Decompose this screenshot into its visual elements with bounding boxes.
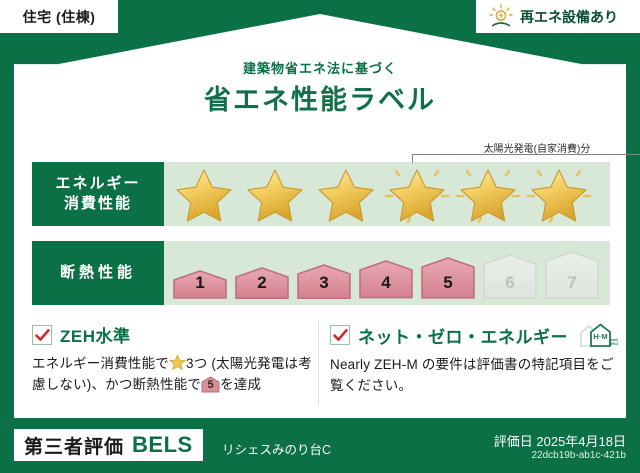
insulation-level-badge: 3 (294, 263, 354, 299)
energy-head-line2: 消費性能 (64, 194, 132, 214)
bels-en-text: BELS (132, 432, 193, 458)
building-type-tab: 住宅 (住棟) (0, 0, 118, 33)
label-subtitle: 建築物省エネ法に基づく (0, 58, 640, 77)
zehm-checkbox[interactable] (330, 325, 350, 345)
insulation-badge-inline: 5 (201, 376, 220, 393)
star-icon (383, 165, 451, 223)
zehm-statement: ネット・ゼロ・エネルギー H·M Nearly ZEH-M Nearly ZEH… (330, 322, 618, 397)
zeh-text-part3: を達成 (220, 377, 261, 392)
insulation-level-badge: 6 (480, 253, 540, 299)
insulation-level-value: 5 (418, 273, 478, 293)
zeh-text-part1: エネルギー消費性能で (32, 356, 169, 371)
zeh-statement: ZEH水準 エネルギー消費性能で3つ (太陽光発電は考慮しない)、かつ断熱性能で… (32, 322, 312, 396)
insulation-level-scale: 1 2 3 (164, 241, 610, 305)
svg-text:H·M: H·M (593, 332, 607, 341)
building-type-text: 住宅 (住棟) (23, 7, 96, 27)
insulation-performance-label-head: 断熱性能 (32, 241, 164, 305)
solar-annotation-text: 太陽光発電(自家消費)分 (406, 140, 640, 155)
insulation-performance-row: 断熱性能 1 2 (32, 241, 610, 305)
zeh-statement-head: ZEH水準 (32, 322, 312, 347)
insulation-level-value: 1 (170, 273, 230, 293)
star-icon (525, 165, 593, 223)
star-icon (169, 354, 186, 371)
energy-performance-row: エネルギー 消費性能 太陽光発電(自家消費)分 (32, 162, 610, 226)
insulation-level-badge: 7 (542, 250, 602, 299)
star-icon (241, 165, 309, 223)
zehm-description: Nearly ZEH-M の要件は評価書の特記項目をご覧ください。 (330, 355, 618, 397)
insulation-level-badge: 5 (418, 256, 478, 299)
bels-jp-text: 第三者評価 (24, 432, 124, 459)
evaluation-date: 評価日 2025年4月18日 (494, 431, 626, 450)
insulation-level-value: 6 (480, 273, 540, 293)
insulation-level-value: 7 (542, 273, 602, 293)
zehm-title: ネット・ゼロ・エネルギー (358, 323, 568, 348)
svg-text:ZEH-M: ZEH-M (609, 342, 618, 346)
label-footer: 第三者評価 BELS リシェスみのり台C 評価日 2025年4月18日 22dc… (0, 418, 640, 473)
insulation-level-badge: 2 (232, 266, 292, 299)
insulation-level-value: 2 (232, 273, 292, 293)
star-icon (454, 165, 522, 223)
zeh-description: エネルギー消費性能で3つ (太陽光発電は考慮しない)、かつ断熱性能で5を達成 (32, 354, 312, 396)
star-icon (170, 165, 238, 223)
energy-performance-label-head: エネルギー 消費性能 (32, 162, 164, 226)
renewable-energy-text: 再エネ設備あり (520, 7, 618, 27)
insulation-badges-area: 1 2 3 (164, 241, 610, 305)
evaluation-id: 22dcb19b-ab1c-421b (531, 450, 626, 461)
zeh-checkbox[interactable] (32, 325, 52, 345)
zeh-title: ZEH水準 (60, 322, 131, 347)
energy-head-line1: エネルギー (55, 174, 140, 194)
star-rating (164, 162, 610, 226)
bels-badge: 第三者評価 BELS (14, 429, 203, 461)
insulation-level-value: 3 (294, 273, 354, 293)
star-icon (312, 165, 380, 223)
sun-icon (488, 4, 514, 30)
renewable-energy-tab: 再エネ設備あり (476, 0, 640, 33)
insulation-level-value: 4 (356, 273, 416, 293)
insulation-head-text: 断熱性能 (60, 263, 136, 283)
energy-performance-label: 住宅 (住棟) 再エネ設備あり 建築物省エネ法に基づく 省エネ性能ラベル (0, 0, 640, 473)
insulation-level-badge: 4 (356, 259, 416, 299)
energy-stars-area: 太陽光発電(自家消費)分 (164, 162, 610, 226)
building-name: リシェスみのり台C (222, 439, 331, 458)
zehm-statement-head: ネット・ゼロ・エネルギー H·M Nearly ZEH-M (330, 322, 618, 348)
zeh-m-logo: H·M Nearly ZEH-M (578, 322, 618, 348)
page-title: 省エネ性能ラベル (0, 78, 640, 117)
statement-divider (318, 320, 319, 406)
insulation-badge-inline-value: 5 (201, 377, 220, 394)
insulation-level-badge: 1 (170, 269, 230, 299)
